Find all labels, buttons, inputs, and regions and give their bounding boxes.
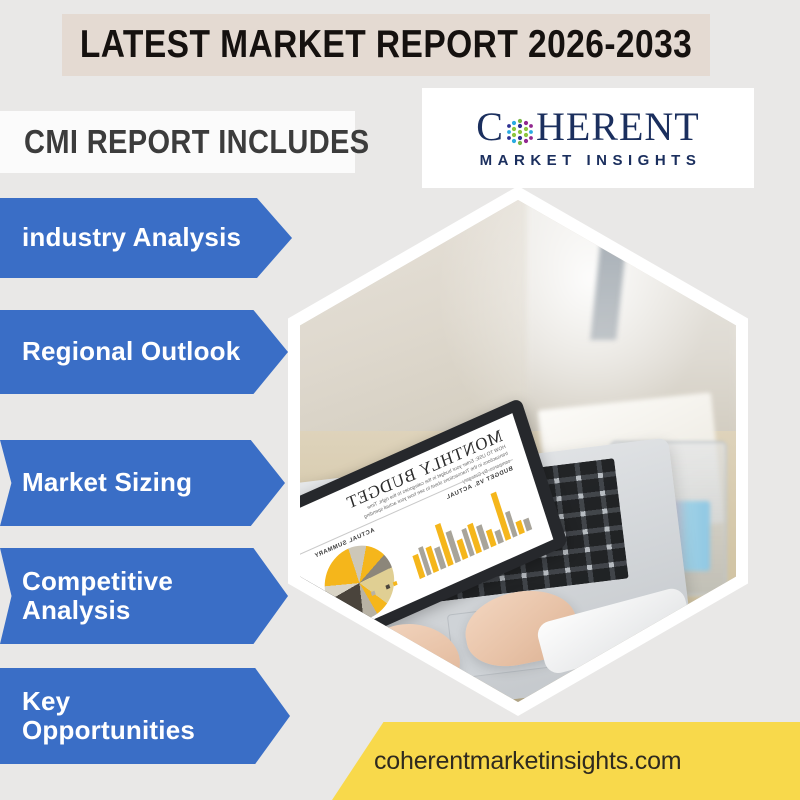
banner-label-line2: Opportunities	[22, 716, 195, 745]
banner-label-multiline: Competitive Analysis	[0, 567, 173, 625]
dotted-circle-icon	[505, 114, 535, 144]
banner-market-sizing[interactable]: Market Sizing	[0, 440, 285, 526]
banner-regional-outlook[interactable]: Regional Outlook	[0, 310, 288, 394]
banner-label-multiline: Key Opportunities	[0, 687, 195, 745]
banner-label-line1: Competitive	[22, 567, 173, 596]
banner-industry-analysis[interactable]: industry Analysis	[0, 198, 292, 278]
logo-letters-herent: HERENT	[536, 107, 700, 147]
page-title: LATEST MARKET REPORT 2026-2033	[80, 23, 692, 67]
hexagon-photo-frame: MONTHLY BUDGET HOW TO USE: Enter your bu…	[288, 186, 748, 716]
banner-label: Market Sizing	[0, 468, 192, 497]
section-header-label: CMI REPORT INCLUDES	[24, 123, 370, 161]
banner-label: industry Analysis	[0, 223, 241, 252]
banner-competitive-analysis[interactable]: Competitive Analysis	[0, 548, 288, 644]
laptop-body: MONTHLY BUDGET HOW TO USE: Enter your bu…	[300, 437, 697, 702]
website-url[interactable]: coherentmarketinsights.com	[374, 747, 681, 776]
footer-bar: coherentmarketinsights.com	[332, 722, 800, 800]
banner-label: Regional Outlook	[0, 337, 240, 366]
banner-key-opportunities[interactable]: Key Opportunities	[0, 668, 290, 764]
banner-label-line2: Analysis	[22, 596, 173, 625]
report-title-bar: LATEST MARKET REPORT 2026-2033	[62, 14, 710, 76]
logo-wordmark: C	[476, 107, 699, 147]
section-header-bar: CMI REPORT INCLUDES	[0, 111, 355, 173]
poster-canvas: LATEST MARKET REPORT 2026-2033 CMI REPOR…	[0, 0, 800, 800]
banner-label-line1: Key	[22, 687, 195, 716]
logo-tagline: MARKET INSIGHTS	[475, 152, 702, 169]
brand-logo-card: C	[422, 88, 754, 188]
logo-letter-c: C	[476, 107, 504, 147]
